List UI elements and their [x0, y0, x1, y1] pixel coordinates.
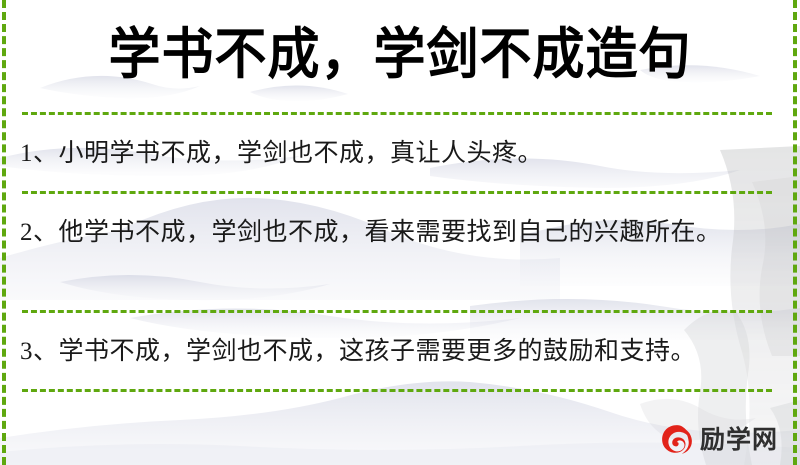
- article-page: 学书不成，学剑不成造句 1、小明学书不成，学剑也不成，真让人头疼。 2、他学书不…: [0, 0, 800, 465]
- separator-bottom: [22, 389, 772, 392]
- swirl-logo-icon: [660, 423, 694, 457]
- list-item: 2、他学书不成，学剑也不成，看来需要找到自己的兴趣所在。: [20, 212, 776, 254]
- frame-border-right: [793, 0, 797, 465]
- separator-1: [22, 191, 772, 194]
- separator-2: [22, 310, 772, 313]
- list-item: 1、小明学书不成，学剑也不成，真让人头疼。: [20, 133, 776, 175]
- site-logo[interactable]: 励学网: [660, 423, 778, 457]
- site-logo-text: 励学网: [700, 428, 778, 453]
- sentence-list: 1、小明学书不成，学剑也不成，真让人头疼。 2、他学书不成，学剑也不成，看来需要…: [0, 0, 800, 465]
- separator-top: [22, 112, 772, 115]
- frame-border-left: [2, 0, 6, 465]
- list-item: 3、学书不成，学剑也不成，这孩子需要更多的鼓励和支持。: [20, 331, 776, 373]
